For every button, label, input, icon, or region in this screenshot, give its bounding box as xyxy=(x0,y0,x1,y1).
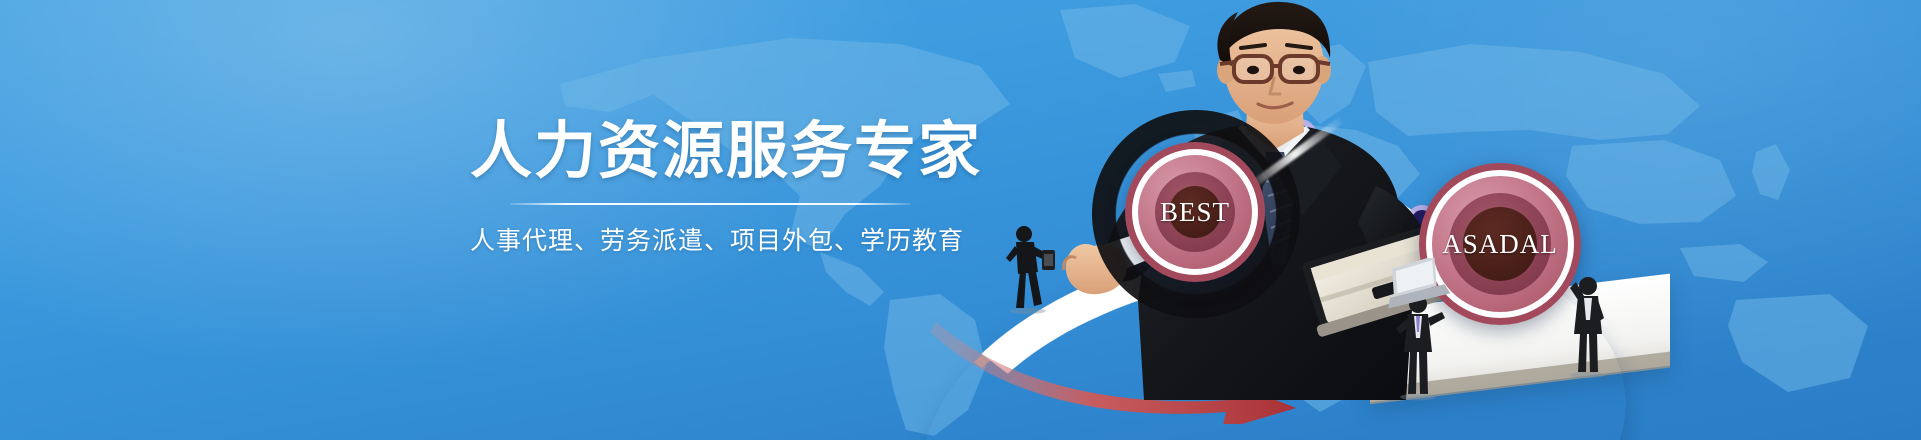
mini-lookout-figure xyxy=(1560,270,1616,380)
page-title: 人力资源服务专家 xyxy=(470,118,950,183)
badge-best: BEST xyxy=(1125,142,1265,282)
banner-copy: 人力资源服务专家 人事代理、劳务派遣、项目外包、学历教育 xyxy=(470,118,950,257)
mini-walker-figure xyxy=(1000,222,1056,314)
mini-laptop-icon xyxy=(1382,258,1452,312)
headline-divider xyxy=(510,203,910,205)
hero-banner: 人力资源服务专家 人事代理、劳务派遣、项目外包、学历教育 xyxy=(0,0,1921,440)
badge-asadal-label: ASADAL xyxy=(1442,229,1558,260)
banner-subtitle: 人事代理、劳务派遣、项目外包、学历教育 xyxy=(470,221,950,257)
badge-best-label: BEST xyxy=(1160,197,1230,228)
